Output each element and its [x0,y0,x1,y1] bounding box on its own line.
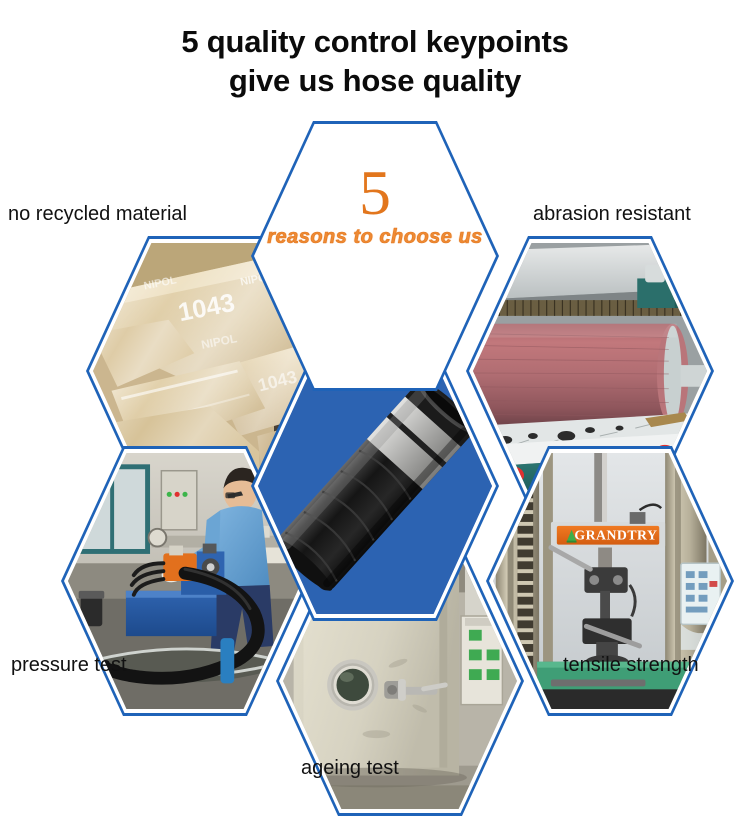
label-abrasion-resistant: abrasion resistant [533,203,691,226]
label-tensile-strength: tensile strength [563,654,699,677]
hexagon-collage: 1043 NIPOL NIPOL NIPOL 1043 [0,0,750,800]
svg-text:GRANDTRY: GRANDTRY [574,528,657,543]
rubber-hose-illustration [258,358,492,614]
label-pressure-test: pressure test [11,654,127,677]
hexagon-reasons-inner: 5 reasons to choose us [258,128,492,384]
reasons-number: 5 [359,164,391,222]
label-no-recycled-material: no recycled material [8,203,187,226]
label-ageing-test: ageing test [301,757,399,780]
reasons-caption: reasons to choose us [267,226,483,249]
hexagon-hose-sample [258,358,492,614]
reasons-badge-content: 5 reasons to choose us [258,128,492,384]
